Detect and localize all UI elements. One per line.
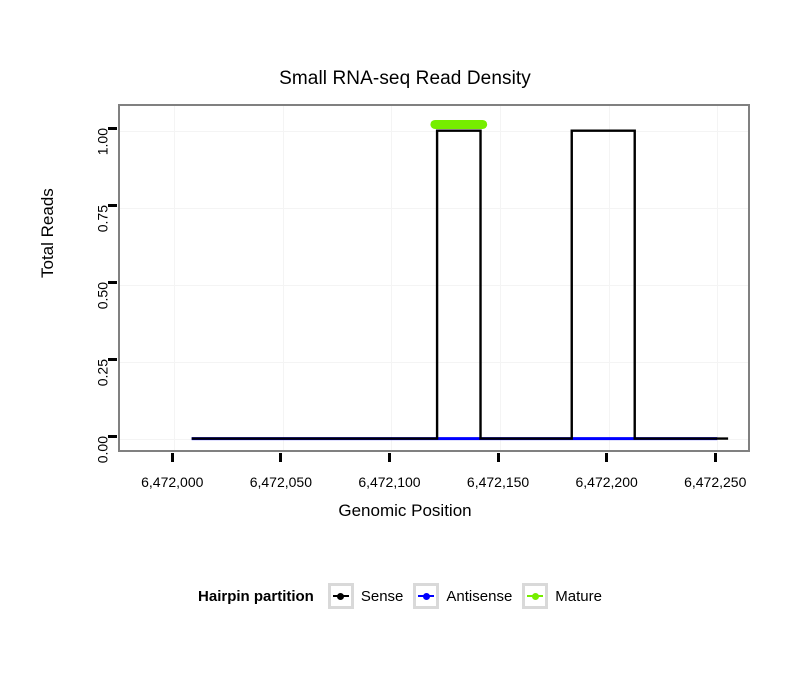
legend-title: Hairpin partition: [198, 588, 314, 605]
y-tick-label-2: 0.50: [94, 282, 110, 309]
x-axis-title: Genomic Position: [0, 501, 810, 521]
legend-key-icon-mature: [522, 583, 548, 609]
legend-entry-antisense[interactable]: Antisense: [413, 583, 512, 609]
legend-entry-sense[interactable]: Sense: [328, 583, 404, 609]
legend-label-mature: Mature: [555, 588, 602, 605]
x-tick-mark-1: [279, 453, 282, 462]
x-tick-label-0: 6,472,000: [112, 474, 232, 490]
y-tick-label-3: 0.75: [94, 205, 110, 232]
legend-entries: SenseAntisenseMature: [328, 583, 612, 609]
chart-legend: Hairpin partition SenseAntisenseMature: [0, 583, 810, 609]
x-tick-label-5: 6,472,250: [655, 474, 775, 490]
x-tick-mark-3: [497, 453, 500, 462]
x-tick-label-1: 6,472,050: [221, 474, 341, 490]
x-tick-label-2: 6,472,100: [329, 474, 449, 490]
x-tick-mark-4: [605, 453, 608, 462]
legend-key-dot: [532, 593, 539, 600]
legend-key-dot: [337, 593, 344, 600]
x-tick-label-4: 6,472,200: [547, 474, 667, 490]
x-tick-mark-5: [714, 453, 717, 462]
chart-title: Small RNA-seq Read Density: [0, 68, 810, 90]
legend-key-icon-antisense: [413, 583, 439, 609]
legend-entry-mature[interactable]: Mature: [522, 583, 602, 609]
legend-label-antisense: Antisense: [446, 588, 512, 605]
x-tick-label-3: 6,472,150: [438, 474, 558, 490]
legend-key-dot: [423, 593, 430, 600]
x-tick-mark-0: [171, 453, 174, 462]
series-layer: [120, 106, 748, 450]
legend-label-sense: Sense: [361, 588, 404, 605]
y-axis-title: Total Reads: [38, 188, 58, 278]
plot-panel: [118, 104, 750, 452]
y-tick-label-1: 0.25: [94, 359, 110, 386]
plot-area: [120, 106, 748, 450]
legend-key-icon-sense: [328, 583, 354, 609]
series-sense-line: [192, 131, 728, 439]
x-tick-mark-2: [388, 453, 391, 462]
figure-container: Small RNA-seq Read Density Total Reads 0…: [0, 0, 810, 690]
y-tick-label-0: 0.00: [94, 436, 110, 463]
y-tick-label-4: 1.00: [94, 128, 110, 155]
